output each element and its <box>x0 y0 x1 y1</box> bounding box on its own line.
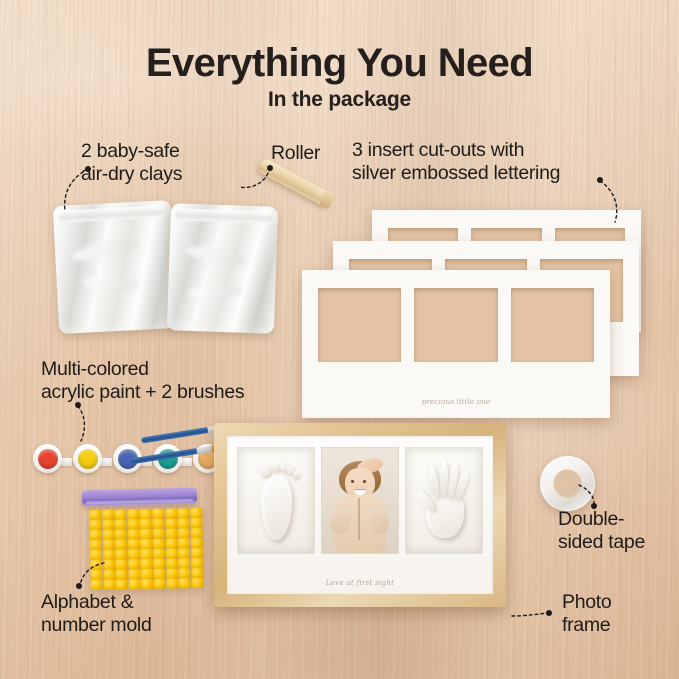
leader-line-clay <box>55 165 95 215</box>
footprint-cast <box>238 448 314 553</box>
callout-label-tape: Double- sided tape <box>558 508 645 553</box>
photo-frame: Love at first sight <box>214 423 506 607</box>
frame-mat: Love at first sight <box>227 436 493 594</box>
callout-label-inserts: 3 insert cut-outs with silver embossed l… <box>352 139 560 184</box>
callout-label-alphabet: Alphabet & number mold <box>41 591 152 636</box>
pouch-seal <box>176 208 273 223</box>
leader-dot-alphabet <box>76 583 82 589</box>
paint-pot-red <box>33 444 62 473</box>
leader-dot-frame <box>546 610 552 616</box>
leader-dot-inserts <box>597 177 603 183</box>
mold-holder-bar <box>82 488 197 507</box>
insert-cutout-front: precious little one <box>302 270 610 418</box>
clay-pouch-left <box>53 200 178 334</box>
paint-pot-yellow <box>73 444 102 473</box>
page-subtitle: In the package <box>0 88 679 112</box>
toe <box>272 462 280 471</box>
leader-dot-roller <box>267 165 273 171</box>
baby-zipper <box>358 498 360 540</box>
callout-label-paint: Multi-colored acrylic paint + 2 brushes <box>41 358 244 403</box>
pouch-crease <box>186 243 248 268</box>
finger <box>440 460 448 498</box>
foot-sole-shape <box>261 475 293 540</box>
leader-dot-paint <box>75 402 81 408</box>
pouch-crease <box>189 285 243 300</box>
insert-lettering-3: precious little one <box>302 397 610 406</box>
pouch-crease <box>83 276 140 292</box>
leader-line-inserts <box>596 178 632 226</box>
leader-dot-tape <box>591 503 597 509</box>
pouch-crease <box>71 234 141 265</box>
frame-caption: Love at first sight <box>227 579 493 587</box>
callout-label-roller: Roller <box>271 142 320 165</box>
baby-photo <box>322 448 398 553</box>
leader-line-paint <box>72 403 100 445</box>
callout-label-frame: Photo frame <box>562 591 611 636</box>
clay-pouch-right <box>167 203 278 334</box>
page-title: Everything You Need <box>0 41 679 86</box>
finger <box>427 464 441 499</box>
leader-dot-clay <box>85 166 91 172</box>
handprint-cast <box>406 448 482 553</box>
callout-label-clay: 2 baby-safe air-dry clays <box>81 140 182 185</box>
baby-mouth <box>355 490 365 495</box>
toe <box>261 466 271 477</box>
toe <box>293 471 299 478</box>
